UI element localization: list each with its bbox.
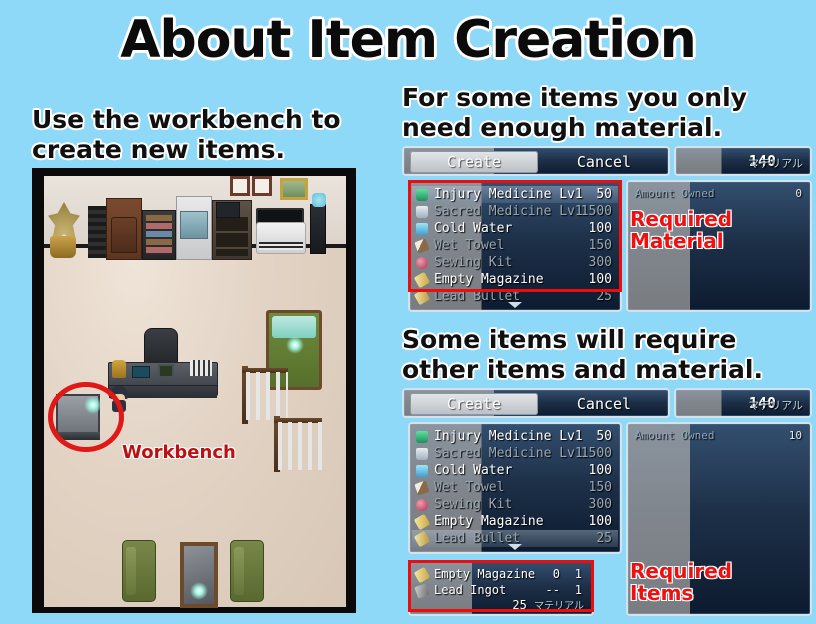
item-price: 50 (596, 428, 612, 445)
item-row[interactable]: Sacred Medicine Lv11500 (412, 445, 618, 462)
sewing-kit-icon (416, 257, 428, 269)
annotation-required-material: Required Material (630, 208, 732, 253)
item-price: 150 (589, 237, 612, 254)
potion-white-icon (416, 448, 428, 460)
workbench-highlight-circle (48, 382, 124, 452)
requirement-need: 1 (575, 582, 582, 598)
magazine-icon (414, 514, 430, 530)
cancel-button[interactable]: Cancel (544, 151, 664, 173)
item-price: 100 (589, 271, 612, 288)
item-row[interactable]: Cold Water100 (412, 220, 618, 237)
item-list-bottom[interactable]: Injury Medicine Lv150 Sacred Medicine Lv… (408, 422, 622, 554)
item-name: Sacred Medicine Lv1 (434, 446, 583, 461)
item-row[interactable]: Injury Medicine Lv150 (412, 428, 618, 445)
item-name: Cold Water (434, 221, 512, 236)
command-window-top: Create Cancel (402, 146, 670, 176)
potion-green-icon (416, 431, 428, 443)
create-button[interactable]: Create (410, 151, 538, 173)
material-counter-bottom: 140 マテリアル (674, 388, 812, 418)
item-name: Empty Magazine (434, 272, 544, 287)
item-price: 1500 (581, 203, 612, 220)
scroll-down-arrow-icon[interactable] (508, 302, 522, 308)
cancel-button[interactable]: Cancel (544, 393, 664, 415)
material-unit-label: マテリアル (748, 397, 803, 413)
water-cooler (310, 204, 326, 254)
item-name: Injury Medicine Lv1 (434, 429, 583, 444)
ingot-icon (414, 583, 429, 598)
item-row[interactable]: Wet Towel150 (412, 237, 618, 254)
server-rack (190, 360, 212, 376)
requirement-cost-value: 25 (512, 598, 526, 612)
item-name: Sacred Medicine Lv1 (434, 204, 583, 219)
item-name: Sewing Kit (434, 497, 512, 512)
item-name: Wet Towel (434, 238, 504, 253)
amount-owned-value: 0 (795, 187, 802, 200)
sewing-kit-icon (416, 499, 428, 511)
room-screenshot: Workbench (32, 168, 356, 613)
bed-pillow (272, 316, 316, 338)
annotation-required-items: Required Items (630, 560, 732, 605)
railing-bars (246, 372, 288, 420)
potion-blue-icon (416, 223, 428, 235)
monitor-icon (158, 364, 174, 378)
wall-picture-1 (230, 176, 250, 196)
microwave (216, 202, 240, 218)
material-unit-label: マテリアル (748, 155, 803, 171)
plant-pot-icon (50, 236, 76, 258)
material-counter-top: 140 マテリアル (674, 146, 812, 176)
item-row[interactable]: Injury Medicine Lv150 (412, 186, 618, 203)
potion-blue-icon (416, 465, 428, 477)
white-sofa (256, 222, 306, 254)
item-price: 25 (596, 288, 612, 305)
item-price: 50 (596, 186, 612, 203)
item-price: 300 (589, 496, 612, 513)
item-name: Sewing Kit (434, 255, 512, 270)
requirement-cost-unit: マテリアル (534, 601, 584, 612)
poster-root: About Item Creation Use the workbench to… (0, 0, 816, 624)
item-row[interactable]: Cold Water100 (412, 462, 618, 479)
amount-owned-value: 10 (789, 429, 802, 442)
bullet-icon (414, 531, 430, 547)
green-sofa-left (122, 540, 156, 602)
requirement-have: -- (546, 582, 560, 598)
craft-panel-items-and-material: Create Cancel 140 マテリアル Injury Medicine … (402, 388, 812, 616)
blurb-bottom-right: Some items will require other items and … (402, 325, 802, 384)
create-button[interactable]: Create (410, 393, 538, 415)
workbench-label: Workbench (122, 442, 236, 463)
item-row[interactable]: Sewing Kit300 (412, 254, 618, 271)
requirement-row: Empty Magazine 0 1 (412, 566, 590, 582)
magazine-icon (414, 272, 430, 288)
potion-white-icon (416, 206, 428, 218)
sparkle-icon (286, 336, 304, 354)
command-window-bottom: Create Cancel (402, 388, 670, 418)
item-list-top[interactable]: Injury Medicine Lv150 Sacred Medicine Lv… (408, 180, 622, 312)
magazine-icon (414, 567, 430, 583)
clock-icon (112, 360, 126, 378)
page-title: About Item Creation (0, 10, 816, 70)
item-name: Wet Towel (434, 480, 504, 495)
requirement-name: Empty Magazine (434, 567, 535, 581)
requirement-have: 0 (553, 566, 560, 582)
item-price: 100 (589, 462, 612, 479)
towel-icon (414, 480, 429, 495)
craft-panel-material-only: Create Cancel 140 マテリアル Injury Medicine … (402, 146, 812, 314)
scroll-down-arrow-icon[interactable] (508, 544, 522, 550)
requirement-need: 1 (575, 566, 582, 582)
item-row[interactable]: Sacred Medicine Lv11500 (412, 203, 618, 220)
item-row[interactable]: Empty Magazine100 (412, 271, 618, 288)
item-price: 1500 (581, 445, 612, 462)
wall-picture-2 (252, 176, 272, 196)
item-name: Injury Medicine Lv1 (434, 187, 583, 202)
blurb-top-right: For some items you only need enough mate… (402, 83, 802, 142)
laptop-icon (132, 366, 150, 378)
blurb-left: Use the workbench to create new items. (32, 105, 392, 164)
black-shelf (88, 206, 106, 258)
potion-green-icon (416, 189, 428, 201)
requirement-cost: 25 マテリアル (512, 597, 584, 612)
wooden-cabinet (106, 198, 142, 260)
item-row[interactable]: Empty Magazine100 (412, 513, 618, 530)
towel-icon (414, 238, 429, 253)
item-price: 100 (589, 513, 612, 530)
amount-owned-label: Amount Owned (635, 429, 714, 442)
requirement-row: Lead Ingot -- 1 (412, 582, 590, 598)
amount-owned-label: Amount Owned (635, 187, 714, 200)
railing-bars-2 (278, 422, 322, 470)
item-row[interactable]: Sewing Kit300 (412, 496, 618, 513)
requirements-window: Empty Magazine 0 1 Lead Ingot -- 1 25 マテ… (408, 560, 594, 616)
glass-cabinet (142, 210, 176, 260)
item-price: 100 (589, 220, 612, 237)
bullet-icon (414, 289, 430, 305)
fridge (176, 196, 212, 260)
requirement-name: Lead Ingot (434, 583, 506, 597)
green-sofa-right (230, 540, 264, 602)
gold-framed-painting (280, 178, 308, 200)
item-price: 150 (589, 479, 612, 496)
item-name: Empty Magazine (434, 514, 544, 529)
item-price: 300 (589, 254, 612, 271)
item-price: 25 (596, 530, 612, 547)
item-name: Cold Water (434, 463, 512, 478)
sparkle-icon-2 (190, 582, 208, 600)
item-row[interactable]: Wet Towel150 (412, 479, 618, 496)
